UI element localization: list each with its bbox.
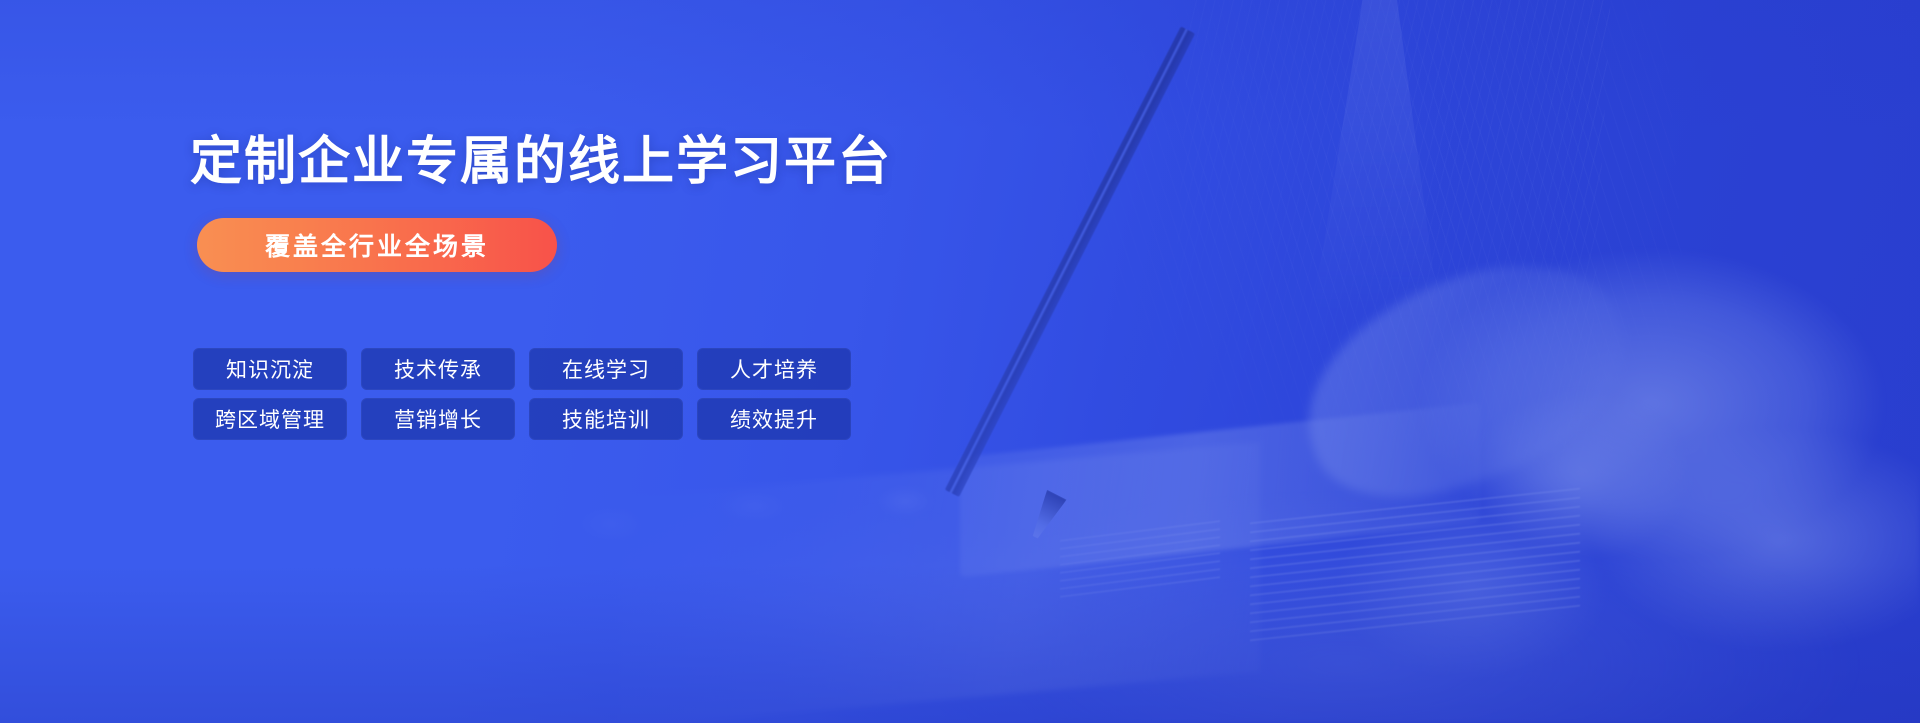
tag-list: 知识沉淀 技术传承 在线学习 人才培养 跨区域管理 营销增长 技能培训 绩效提升: [193, 348, 851, 440]
tag-performance-improvement[interactable]: 绩效提升: [697, 398, 851, 440]
tag-technology-inheritance[interactable]: 技术传承: [361, 348, 515, 390]
tag-talent-development[interactable]: 人才培养: [697, 348, 851, 390]
tag-skills-training[interactable]: 技能培训: [529, 398, 683, 440]
coverage-badge[interactable]: 覆盖全行业全场景: [197, 218, 557, 272]
tag-online-learning[interactable]: 在线学习: [529, 348, 683, 390]
hero-banner: 定制企业专属的线上学习平台 覆盖全行业全场景 知识沉淀 技术传承 在线学习 人才…: [0, 0, 1920, 723]
page-title: 定制企业专属的线上学习平台: [190, 132, 892, 193]
banner-content: 定制企业专属的线上学习平台 覆盖全行业全场景 知识沉淀 技术传承 在线学习 人才…: [0, 0, 1000, 723]
tag-knowledge-precipitation[interactable]: 知识沉淀: [193, 348, 347, 390]
tag-marketing-growth[interactable]: 营销增长: [361, 398, 515, 440]
tag-cross-region-management[interactable]: 跨区域管理: [193, 398, 347, 440]
